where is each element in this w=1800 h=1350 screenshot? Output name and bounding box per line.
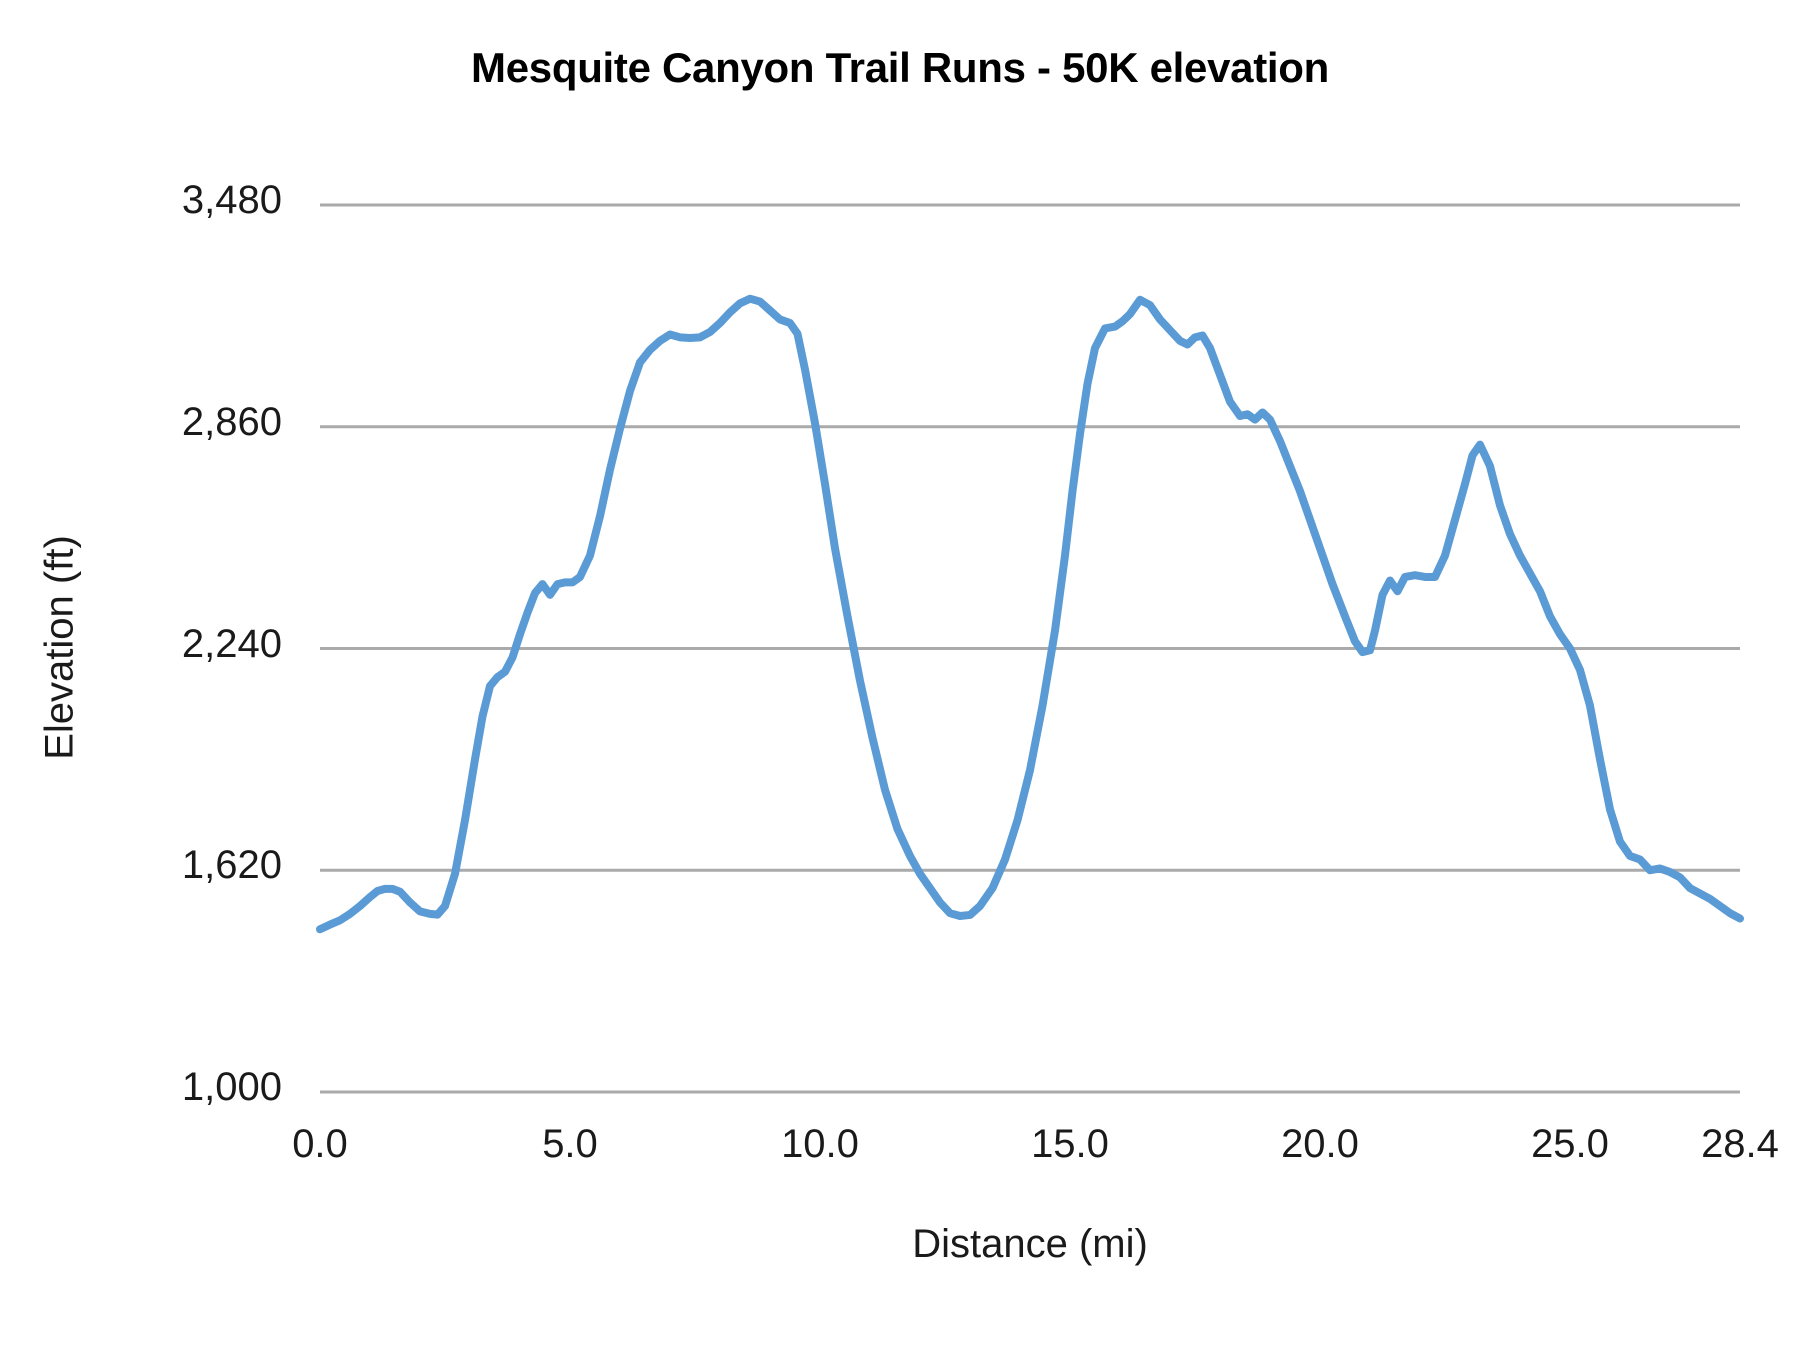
x-tick-label-6: 28.4 <box>1630 1124 1800 1164</box>
x-tick-label-1: 5.0 <box>460 1124 680 1164</box>
x-tick-label-4: 20.0 <box>1210 1124 1430 1164</box>
elevation-line-series <box>320 299 1740 930</box>
gridlines <box>320 205 1740 1092</box>
x-tick-label-3: 15.0 <box>960 1124 1180 1164</box>
chart-container: Mesquite Canyon Trail Runs - 50K elevati… <box>0 0 1800 1350</box>
series-line-elevation <box>320 299 1740 930</box>
y-tick-label-0: 3,480 <box>22 180 282 220</box>
x-tick-label-0: 0.0 <box>210 1124 430 1164</box>
y-tick-label-4: 1,000 <box>22 1067 282 1107</box>
y-axis-title: Elevation (ft) <box>38 428 83 868</box>
x-axis-title: Distance (mi) <box>320 1222 1740 1267</box>
x-tick-label-2: 10.0 <box>710 1124 930 1164</box>
